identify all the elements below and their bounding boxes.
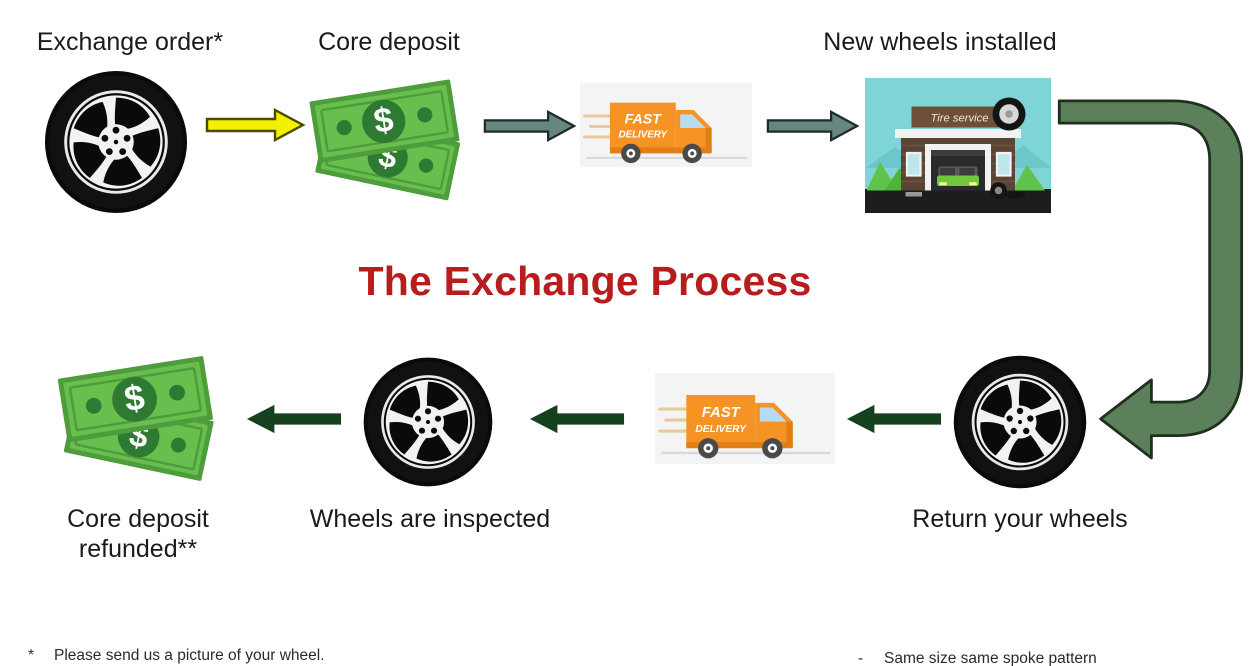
label-wheels-are-inspected: Wheels are inspected bbox=[295, 505, 565, 535]
footnotes-left: * Please send us a picture of your wheel… bbox=[28, 593, 458, 666]
arrow-teal-shipping-to-shop bbox=[766, 110, 859, 142]
footnote-text: Same size same spoke pattern bbox=[884, 646, 1097, 666]
label-return-your-wheels: Return your wheels bbox=[890, 505, 1150, 535]
svg-text:DELIVERY: DELIVERY bbox=[695, 424, 747, 435]
footnote-mark: - bbox=[858, 646, 884, 666]
money-image-refund: $ $ bbox=[48, 348, 230, 485]
svg-text:FAST: FAST bbox=[625, 112, 663, 128]
footnote-item: * Please send us a picture of your wheel… bbox=[28, 643, 458, 666]
svg-text:FAST: FAST bbox=[702, 405, 742, 421]
footnote-text: Please send us a picture of your wheel. bbox=[54, 643, 325, 666]
arrow-yellow-exchange-to-deposit bbox=[205, 108, 305, 142]
svg-text:Tire service: Tire service bbox=[930, 113, 988, 125]
label-core-deposit-refunded: Core deposit refunded** bbox=[18, 505, 258, 564]
wheel-image-return-your-wheels bbox=[950, 353, 1090, 491]
arrow-darkgreen-inspection-to-refund bbox=[245, 403, 343, 435]
wheel-image-exchange-order bbox=[40, 68, 192, 216]
arrow-darkgreen-shipping-to-inspection bbox=[528, 403, 626, 435]
label-core-deposit: Core deposit bbox=[290, 28, 488, 58]
footnote-mark: * bbox=[28, 643, 54, 666]
truck-image-outbound: FAST DELIVERY bbox=[580, 83, 752, 167]
arrow-teal-deposit-to-shipping bbox=[483, 110, 576, 142]
exchange-process-diagram: Exchange order* Core deposit New wheels … bbox=[0, 0, 1250, 666]
svg-text:DELIVERY: DELIVERY bbox=[619, 130, 669, 141]
page-title: The Exchange Process bbox=[275, 258, 895, 305]
truck-image-inbound: FAST DELIVERY bbox=[655, 373, 835, 464]
label-exchange-order: Exchange order* bbox=[10, 28, 250, 58]
label-new-wheels-installed: New wheels installed bbox=[790, 28, 1090, 58]
wheel-image-wheels-inspected bbox=[360, 355, 496, 489]
tire-service-shop-image: Tire service bbox=[865, 78, 1051, 213]
footnote-item: - Same size same spoke pattern bbox=[858, 646, 1248, 666]
arrow-darkgreen-return-to-shipping bbox=[845, 403, 943, 435]
footnotes-right: - Same size same spoke pattern - No chro… bbox=[858, 596, 1248, 666]
money-image-core-deposit: $ $ bbox=[300, 72, 476, 204]
